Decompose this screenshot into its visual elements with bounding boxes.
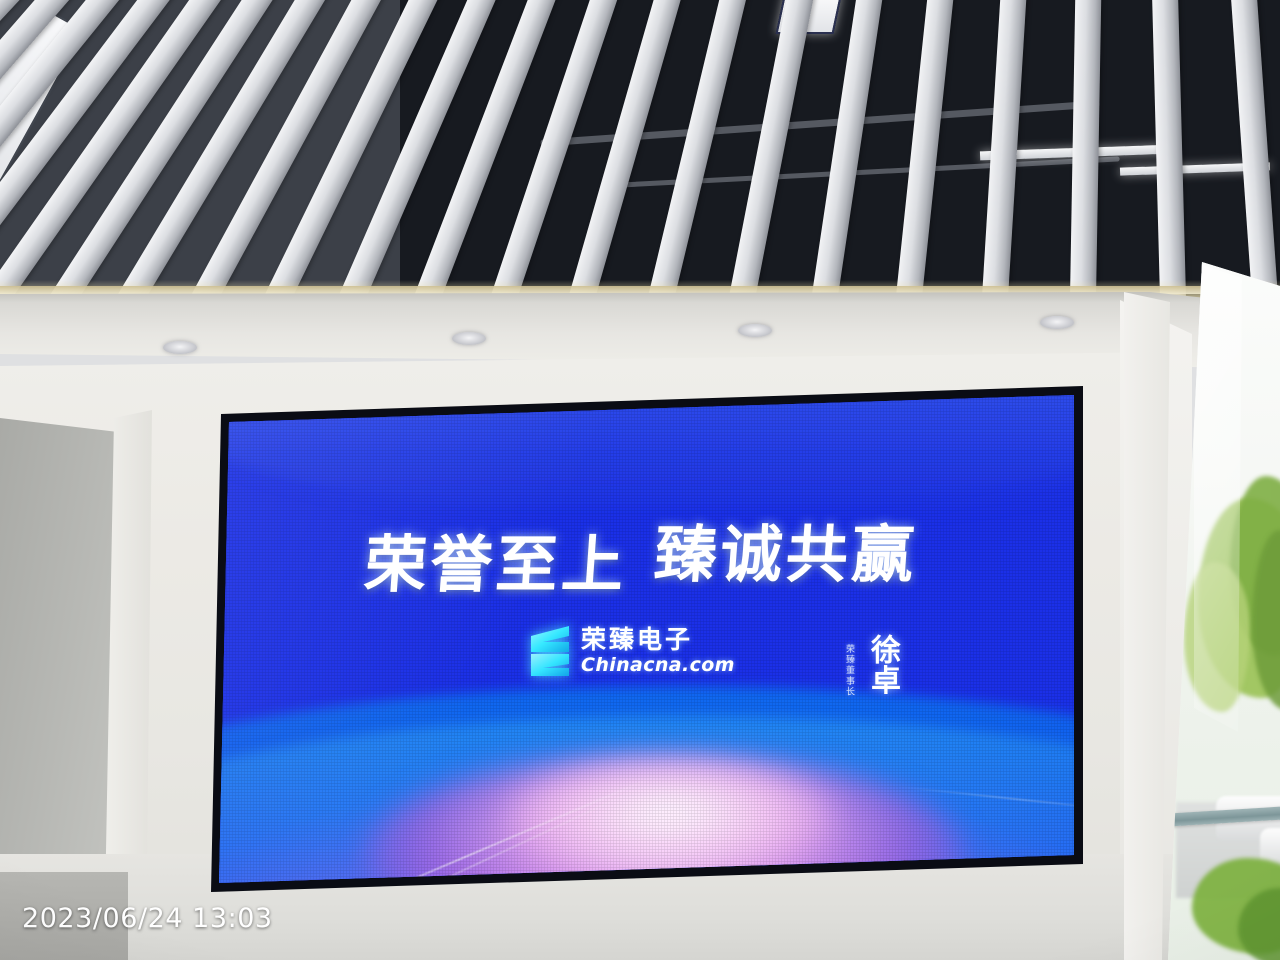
slogan-text-part-2: 臻诚共赢 <box>652 504 921 594</box>
slogan-text-part-1: 荣誉至上 <box>362 514 631 604</box>
chairman-signature: 荣臻董事长 徐卓 <box>843 634 904 697</box>
brand-logo-lockup: 荣臻电子 Chinacna.com <box>527 622 735 680</box>
brand-name-cn: 荣臻电子 <box>581 627 735 652</box>
recessed-downlight <box>452 332 486 345</box>
led-display-panel[interactable]: 荣誉至上 臻诚共赢 <box>205 386 1083 892</box>
ceiling <box>0 0 1280 300</box>
recessed-downlight <box>738 324 772 337</box>
brand-text-block: 荣臻电子 Chinacna.com <box>581 627 735 675</box>
signature-name: 徐卓 <box>860 634 904 695</box>
signature-title: 荣臻董事长 <box>843 644 856 697</box>
camera-timestamp: 2023/06/24 13:03 <box>22 903 273 934</box>
brand-domain: Chinacna.com <box>581 656 735 675</box>
window-glass-reflection <box>1194 262 1242 732</box>
wall-alcove-recess <box>0 418 118 888</box>
photo-scene: 荣誉至上 臻诚共赢 <box>0 0 1280 960</box>
recessed-downlight <box>163 341 197 354</box>
rongzhen-z-mark-icon <box>527 622 573 680</box>
recessed-downlight <box>1040 316 1074 329</box>
display-content: 荣誉至上 臻诚共赢 <box>205 386 1083 892</box>
